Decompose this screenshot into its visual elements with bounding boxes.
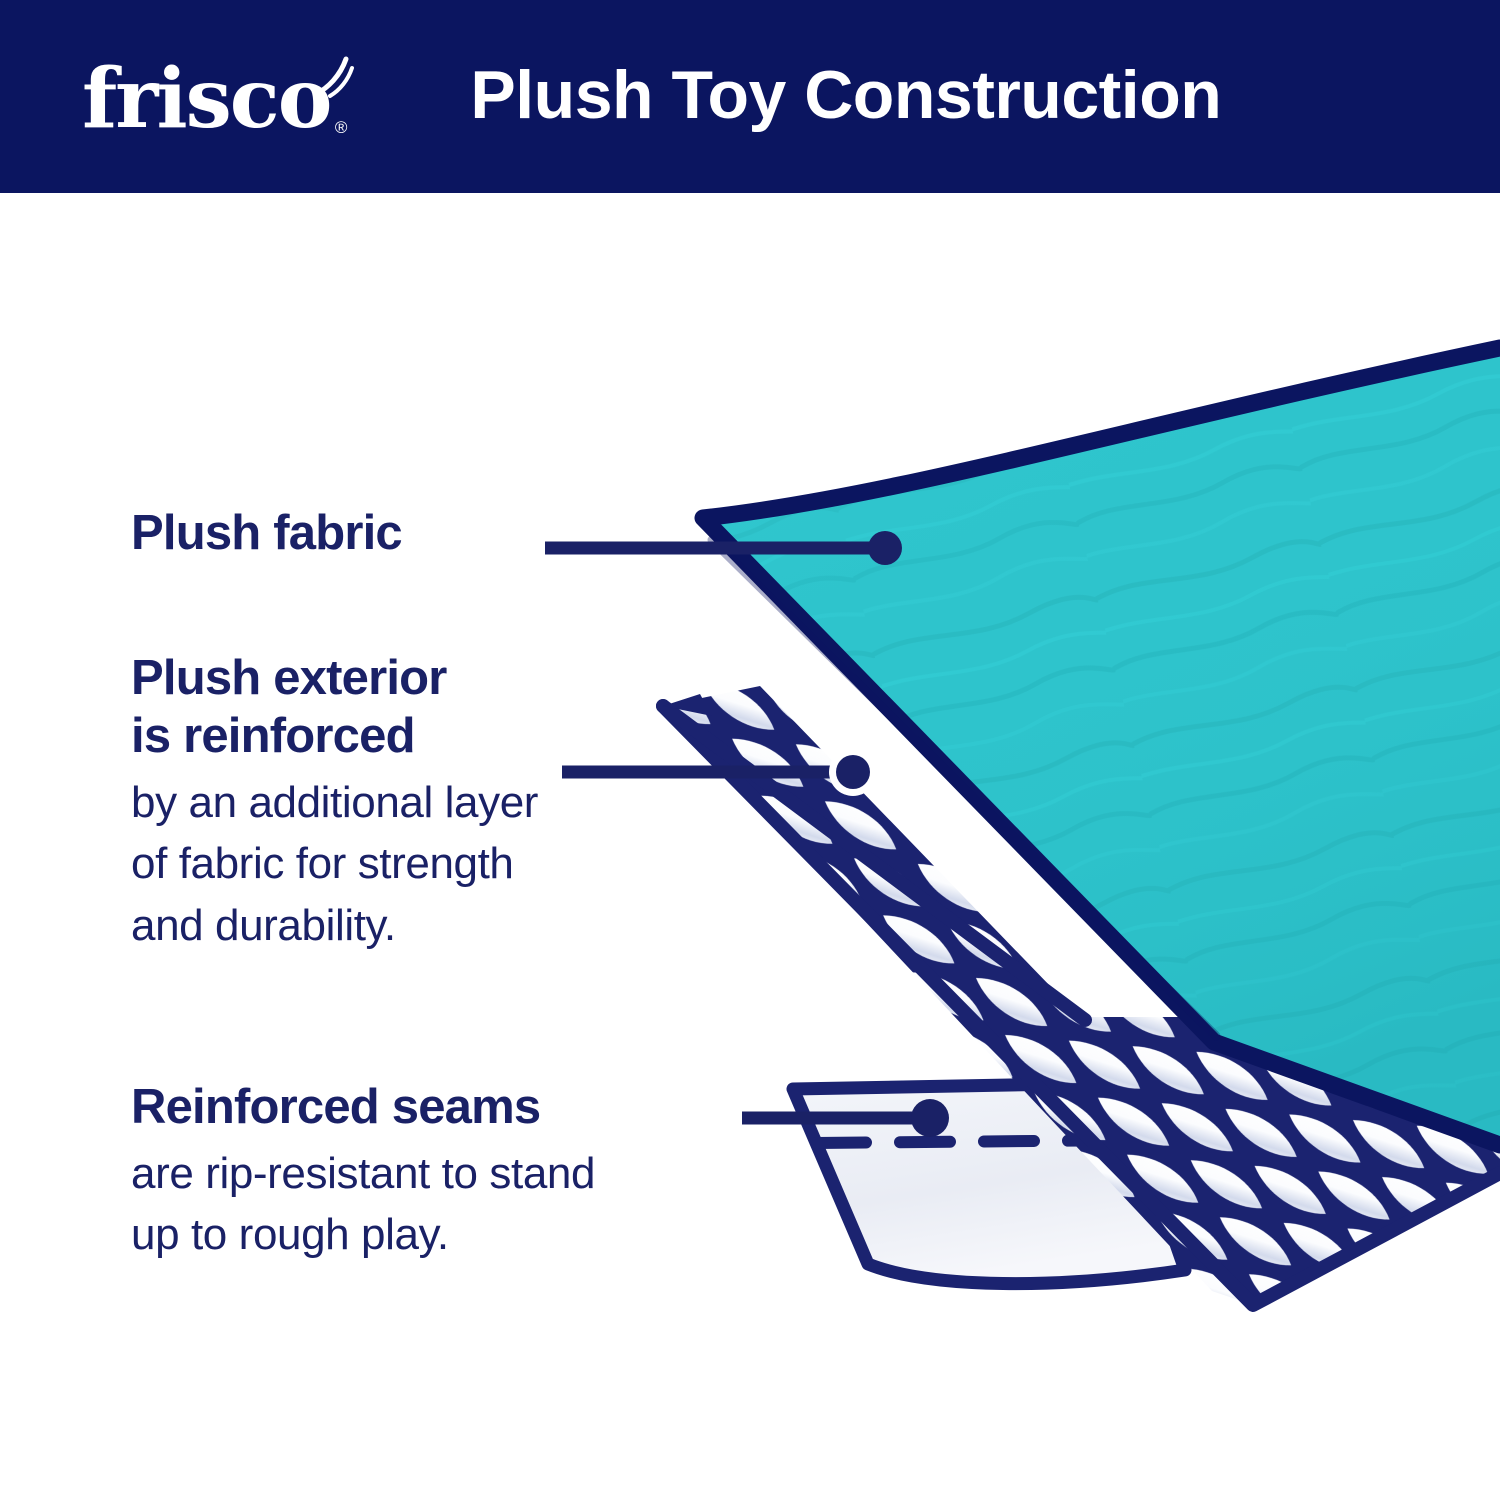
plush-fur-texture [640, 330, 1500, 1190]
plush-panel-shape [703, 352, 1500, 1148]
plush-panel-fold-highlight [712, 540, 1216, 1036]
seam-flap-layer [793, 1083, 1185, 1284]
callout-reinforced-seams-heading-line-1: Reinforced seams [131, 1079, 595, 1137]
callout-plush-exterior-heading-line-1: Plush exterior [131, 650, 538, 708]
callout-plush-exterior-heading-line-2: is reinforced [131, 708, 538, 766]
callout-plush-exterior-body-line-2: of fabric for strength [131, 833, 538, 895]
callout-dot-plush-exterior [836, 755, 870, 789]
frisco-logo: frisco ® [82, 58, 330, 140]
plush-panel-outline [703, 348, 1500, 1145]
page-title: Plush Toy Construction [470, 56, 1221, 134]
mesh-band-top-edge [663, 706, 1085, 1020]
seam-flap-shape [793, 1083, 1185, 1284]
callout-plush-fabric-heading-line-1: Plush fabric [131, 505, 402, 563]
logo-swoosh-icon [310, 54, 356, 100]
callout-plush-exterior-body-line-1: by an additional layer [131, 772, 538, 834]
brand-wordmark: frisco [82, 51, 330, 147]
callout-dot-reinforced-seams [911, 1099, 949, 1137]
infographic-page: frisco ® Plush Toy Construction [0, 0, 1500, 1500]
callout-plush-exterior: Plush exterior is reinforced by an addit… [131, 650, 538, 956]
callout-reinforced-seams: Reinforced seams are rip-resistant to st… [131, 1079, 595, 1266]
registered-trademark-icon: ® [335, 119, 348, 136]
seam-flap-crease [816, 1140, 1140, 1143]
callout-plush-fabric: Plush fabric [131, 505, 402, 563]
plush-sheen [640, 330, 1500, 1190]
plush-fabric-layer [640, 330, 1500, 1190]
callout-plush-exterior-body-line-3: and durability. [131, 895, 538, 957]
callout-reinforced-seams-body-line-1: are rip-resistant to stand [131, 1143, 595, 1205]
mesh-lattice-fill [600, 640, 1500, 1360]
mesh-band-outline [663, 706, 1500, 1305]
callout-dot-plush-exterior-ring [829, 748, 877, 796]
callout-dot-plush-fabric [868, 531, 902, 565]
mesh-band-tip [663, 694, 712, 716]
reinforcement-mesh-layer [600, 640, 1500, 1360]
header-banner: frisco ® Plush Toy Construction [0, 0, 1500, 193]
callout-reinforced-seams-body-line-2: up to rough play. [131, 1204, 595, 1266]
leader-lines-group [545, 531, 949, 1137]
